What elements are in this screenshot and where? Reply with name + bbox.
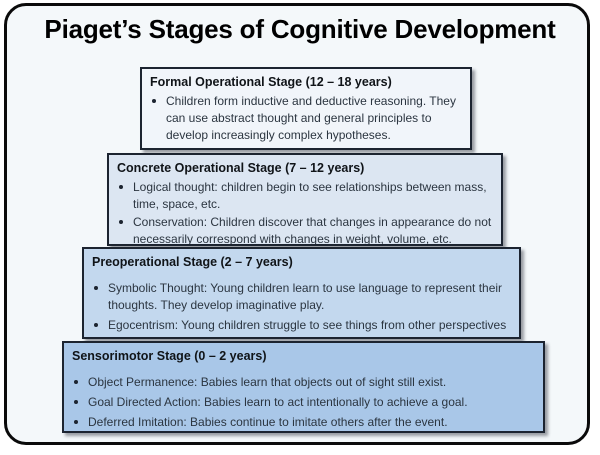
list-item: Logical thought: children begin to see r… [117,179,493,213]
list-item: Conservation: Children discover that cha… [117,214,493,246]
bullet-dot-icon [152,99,156,103]
bullet-dot-icon [119,220,123,224]
stage-heading: Sensorimotor Stage (0 – 2 years) [72,348,535,365]
list-item-text: Object Permanence: Babies learn that obj… [88,375,446,389]
stage-box-preoperational: Preoperational Stage (2 – 7 years) Symbo… [82,247,521,339]
stage-heading: Formal Operational Stage (12 – 18 years) [150,74,462,91]
stage-box-formal-operational: Formal Operational Stage (12 – 18 years)… [140,67,472,150]
diagram-frame: Piaget’s Stages of Cognitive Development… [4,3,590,445]
bullet-dot-icon [74,420,78,424]
stage-box-concrete-operational: Concrete Operational Stage (7 – 12 years… [107,153,503,246]
list-item-text: Goal Directed Action: Babies learn to ac… [88,395,468,409]
stage-bullet-list: Logical thought: children begin to see r… [117,179,493,246]
list-item-text: Conservation: Children discover that cha… [133,215,491,246]
bullet-dot-icon [119,185,123,189]
bullet-dot-icon [94,323,98,327]
stage-heading: Concrete Operational Stage (7 – 12 years… [117,160,493,177]
page-title: Piaget’s Stages of Cognitive Development [7,14,593,45]
bullet-dot-icon [74,400,78,404]
stage-heading: Preoperational Stage (2 – 7 years) [92,254,511,271]
list-item-text: Symbolic Thought: Young children learn t… [108,281,502,312]
list-item: Symbolic Thought: Young children learn t… [92,280,511,314]
list-item-text: Deferred Imitation: Babies continue to i… [88,415,448,429]
stage-bullet-list: Children form inductive and deductive re… [150,93,462,144]
list-item-text: Children form inductive and deductive re… [166,94,456,142]
list-item-text: Egocentrism: Young children struggle to … [108,318,506,332]
stage-box-sensorimotor: Sensorimotor Stage (0 – 2 years) Object … [62,341,545,433]
bullet-dot-icon [94,286,98,290]
bullet-dot-icon [74,380,78,384]
list-item: Goal Directed Action: Babies learn to ac… [72,394,535,411]
stage-bullet-list: Symbolic Thought: Young children learn t… [92,280,511,334]
list-item-text: Logical thought: children begin to see r… [133,180,487,211]
list-item: Object Permanence: Babies learn that obj… [72,374,535,391]
list-item: Deferred Imitation: Babies continue to i… [72,414,535,431]
list-item: Children form inductive and deductive re… [150,93,462,144]
list-item: Egocentrism: Young children struggle to … [92,317,511,334]
stage-bullet-list: Object Permanence: Babies learn that obj… [72,374,535,431]
